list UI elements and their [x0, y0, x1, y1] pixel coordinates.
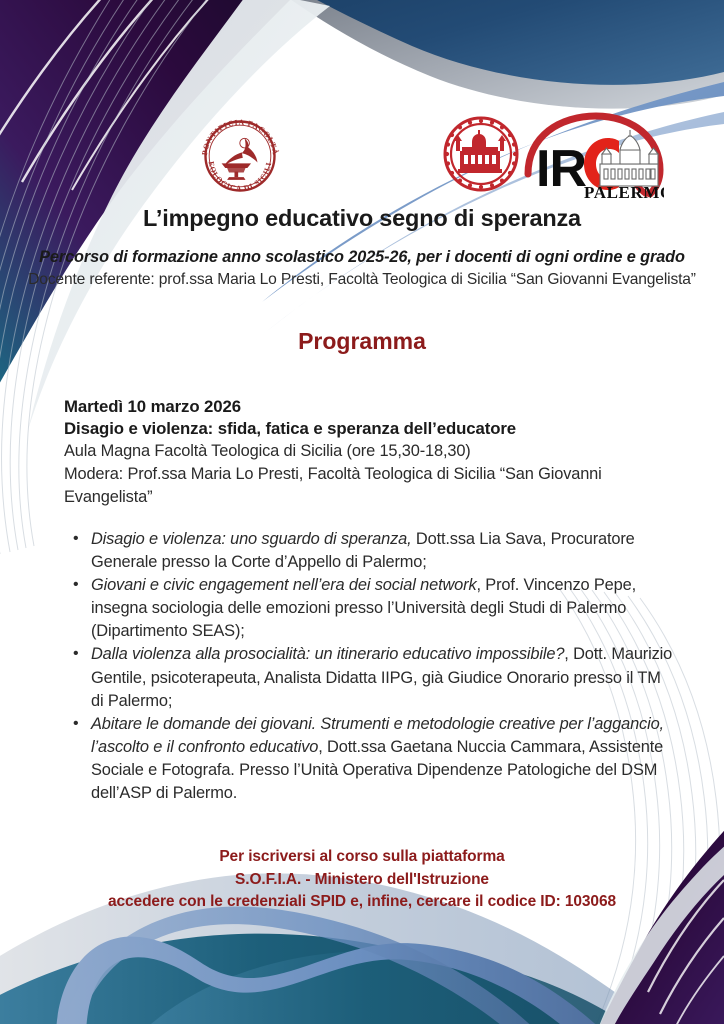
list-item: Disagio e violenza: uno sguardo di spera… — [64, 528, 674, 574]
registration-footer: Per iscriversi al corso sulla piattaform… — [0, 846, 724, 914]
svg-text:IR: IR — [536, 140, 586, 198]
list-item: Abitare le domande dei giovani. Strument… — [64, 713, 674, 805]
talk-title: Disagio e violenza: uno sguardo di spera… — [91, 530, 412, 548]
footer-line-1: Per iscriversi al corso sulla piattaform… — [0, 846, 724, 869]
logo-row: PONTIFICIA FACOLTÀ TEOLOGICA DI SICILIA — [0, 108, 724, 204]
pontificia-facolta-teologica-seal-icon: PONTIFICIA FACOLTÀ TEOLOGICA DI SICILIA — [190, 110, 290, 202]
footer-line-3: accedere con le credenziali SPID e, infi… — [0, 891, 724, 914]
programme-heading: Programma — [0, 328, 724, 355]
poster-subtitle: Percorso di formazione anno scolastico 2… — [0, 248, 724, 267]
poster-title: L’impegno educativo segno di speranza — [0, 205, 724, 232]
irc-palermo-logo-icon: IR — [432, 108, 664, 200]
talk-title: Giovani e civic engagement nell’era dei … — [91, 576, 476, 594]
poster: PONTIFICIA FACOLTÀ TEOLOGICA DI SICILIA — [0, 0, 724, 1024]
talk-title: Dalla violenza alla prosocialità: un iti… — [91, 645, 564, 663]
footer-line-2: S.O.F.I.A. - Ministero dell'Istruzione — [0, 869, 724, 892]
list-item: Giovani e civic engagement nell’era dei … — [64, 574, 674, 643]
svg-text:PALERMO: PALERMO — [584, 183, 664, 200]
list-item: Dalla violenza alla prosocialità: un iti… — [64, 643, 674, 712]
session-venue: Aula Magna Facoltà Teologica di Sicilia … — [64, 440, 664, 463]
session-date: Martedì 10 marzo 2026 — [64, 396, 664, 418]
session-chair: Modera: Prof.ssa Maria Lo Presti, Facolt… — [64, 463, 664, 509]
svg-text:PONTIFICIA FACOLTÀ: PONTIFICIA FACOLTÀ — [200, 118, 281, 156]
session-theme: Disagio e violenza: sfida, fatica e sper… — [64, 418, 664, 440]
talks-list: Disagio e violenza: uno sguardo di spera… — [64, 528, 674, 805]
session-block: Martedì 10 marzo 2026 Disagio e violenza… — [64, 396, 664, 509]
course-referent: Docente referente: prof.ssa Maria Lo Pre… — [0, 271, 724, 289]
